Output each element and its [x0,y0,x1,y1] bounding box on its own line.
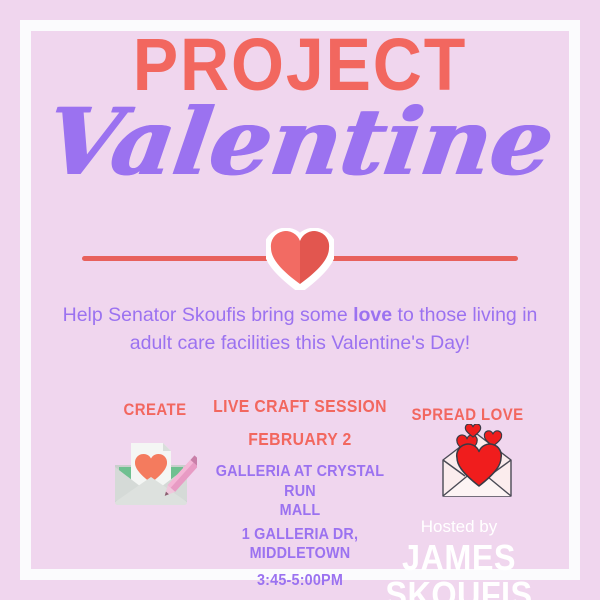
open-envelope-hearts-icon [437,424,517,500]
page-title-valentine: Valentine [0,96,600,188]
envelope-card-pencil-icon [105,427,197,507]
hosted-by-label: Hosted by [335,518,583,537]
valentine-event-poster: PROJECT Valentine Help Senator Skoufis b… [0,0,600,600]
event-venue-line1: GALLERIA AT CRYSTAL RUN [201,462,399,501]
poster-description: Help Senator Skoufis bring some love to … [60,302,540,357]
description-part-1: Help Senator Skoufis bring some [63,304,353,326]
host-name: JAMES SKOUFIS [347,539,570,600]
heart-icon [266,228,334,290]
host-credit: Hosted by JAMES SKOUFIS State Senator [335,518,583,600]
description-emphasis: love [353,304,392,326]
event-date: FEBRUARY 2 [201,429,399,450]
event-title: LIVE CRAFT SESSION [201,396,399,417]
column-heading-spread-love: SPREAD LOVE [399,405,535,425]
